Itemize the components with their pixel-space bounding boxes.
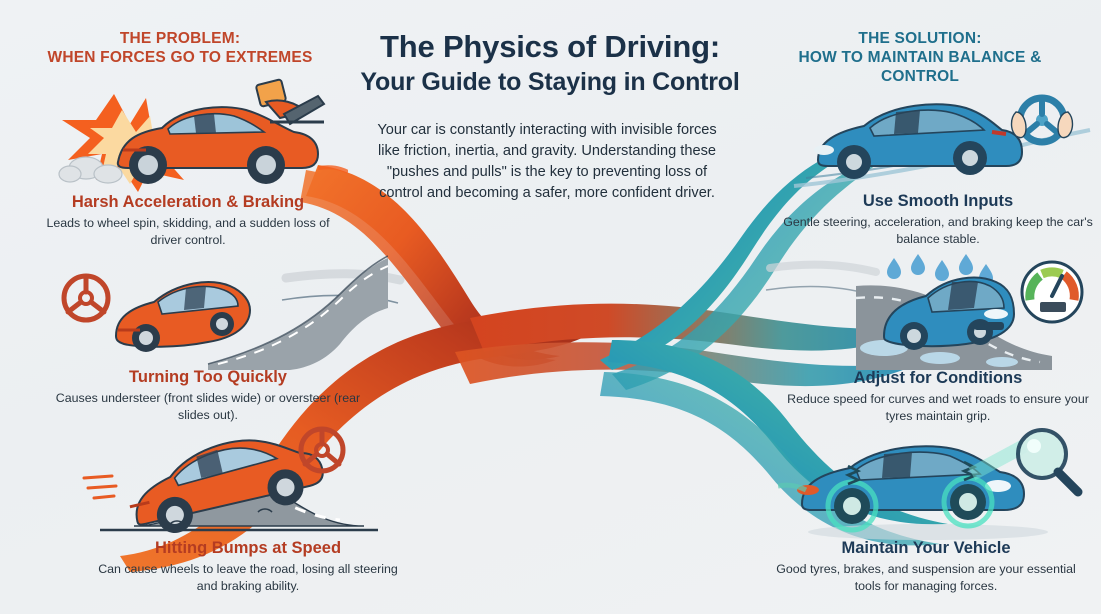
solution-item-2-heading: Adjust for Conditions bbox=[782, 369, 1094, 389]
problem-item-3: Hitting Bumps at Speed Can cause wheels … bbox=[92, 539, 404, 594]
illustration-use-smooth-inputs bbox=[792, 82, 1092, 192]
solution-item-3-heading: Maintain Your Vehicle bbox=[768, 539, 1084, 559]
solution-kicker: THE SOLUTION: HOW TO MAINTAIN BALANCE & … bbox=[762, 30, 1078, 87]
problem-item-3-heading: Hitting Bumps at Speed bbox=[92, 539, 404, 559]
problem-kicker: THE PROBLEM: WHEN FORCES GO TO EXTREMES bbox=[28, 30, 332, 68]
page-title: The Physics of Driving: Your Guide to St… bbox=[330, 30, 770, 97]
title-line-2: Your Guide to Staying in Control bbox=[330, 67, 770, 97]
problem-item-2-body: Causes understeer (front slides wide) or… bbox=[52, 390, 364, 423]
problem-kicker-line1: THE PROBLEM: bbox=[28, 30, 332, 49]
solution-kicker-line1: THE SOLUTION: bbox=[762, 30, 1078, 49]
illustration-adjust-for-conditions bbox=[856, 252, 1094, 370]
problem-kicker-line2: WHEN FORCES GO TO EXTREMES bbox=[28, 49, 332, 68]
solution-item-1-body: Gentle steering, acceleration, and braki… bbox=[782, 214, 1094, 247]
problem-item-1-heading: Harsh Acceleration & Braking bbox=[32, 193, 344, 213]
solution-item-1: Use Smooth Inputs Gentle steering, accel… bbox=[782, 192, 1094, 247]
solution-item-1-heading: Use Smooth Inputs bbox=[782, 192, 1094, 212]
speed-gauge-icon bbox=[1022, 262, 1082, 322]
orange-car-three-quarter bbox=[116, 282, 250, 352]
speed-lines bbox=[84, 476, 116, 498]
problem-item-2: Turning Too Quickly Causes understeer (f… bbox=[52, 368, 364, 423]
illustration-turning-too-quickly bbox=[58, 252, 388, 370]
solution-kicker-line2: HOW TO MAINTAIN BALANCE & CONTROL bbox=[762, 49, 1078, 87]
solution-item-2: Adjust for Conditions Reduce speed for c… bbox=[782, 369, 1094, 424]
solution-item-3: Maintain Your Vehicle Good tyres, brakes… bbox=[768, 539, 1084, 594]
problem-item-2-heading: Turning Too Quickly bbox=[52, 368, 364, 388]
problem-item-1-body: Leads to wheel spin, skidding, and a sud… bbox=[32, 215, 344, 248]
illustration-hitting-bumps bbox=[78, 420, 414, 542]
infographic-poster: THE PROBLEM: WHEN FORCES GO TO EXTREMES … bbox=[0, 0, 1101, 614]
problem-item-1: Harsh Acceleration & Braking Leads to wh… bbox=[32, 193, 344, 248]
solution-item-3-body: Good tyres, brakes, and suspension are y… bbox=[768, 561, 1084, 594]
solution-item-2-body: Reduce speed for curves and wet roads to… bbox=[782, 391, 1094, 424]
illustration-harsh-acceleration bbox=[18, 76, 348, 194]
hands-on-steering-wheel-icon bbox=[1012, 98, 1073, 142]
illustration-maintain-your-vehicle bbox=[778, 428, 1092, 542]
title-line-1: The Physics of Driving: bbox=[330, 30, 770, 65]
problem-item-3-body: Can cause wheels to leave the road, losi… bbox=[92, 561, 404, 594]
steering-wheel-icon-orange bbox=[64, 276, 108, 320]
intro-paragraph: Your car is constantly interacting with … bbox=[372, 120, 722, 205]
